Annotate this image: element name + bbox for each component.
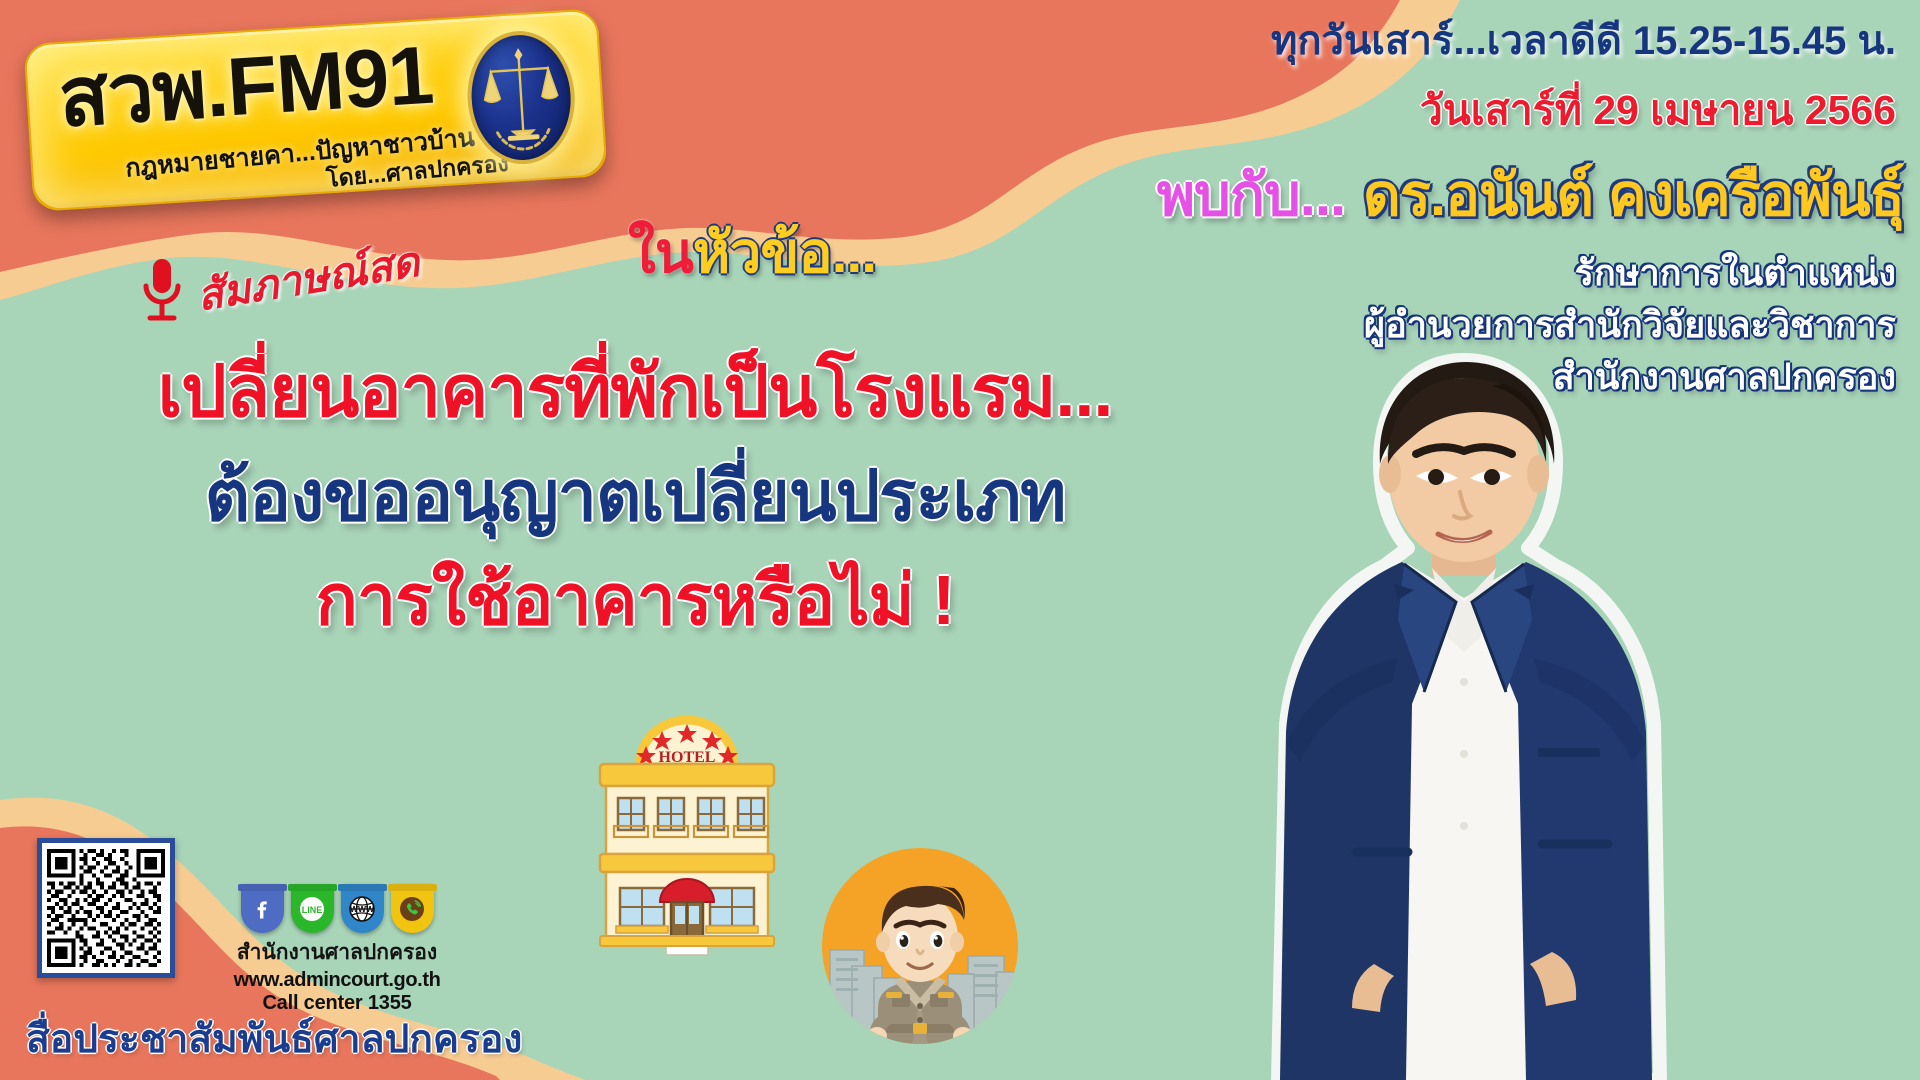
svg-text:WWW: WWW <box>350 904 375 914</box>
call-center-icon[interactable] <box>391 884 434 933</box>
guest-name: ดร.อนันต์ คงเครือพันธุ์ <box>1363 163 1904 228</box>
schedule-recurrence: ทุกวันเสาร์...เวลาดีดี 15.25-15.45 น. <box>1271 8 1896 72</box>
meet-prefix: พบกับ... <box>1157 163 1345 228</box>
organization-url[interactable]: www.admincourt.go.th <box>222 969 452 992</box>
guest-role-line-2: ผู้อำนวยการสำนักวิจัยและวิชาการ <box>1364 296 1896 353</box>
organization-name: สำนักงานศาลปกครอง <box>222 936 452 969</box>
hotel-building-illustration: HOTEL <box>588 706 786 958</box>
headline-block: เปลี่ยนอาคารที่พักเป็นโรงแรม... ต้องขออน… <box>0 352 1270 639</box>
headline-line-3: การใช้อาคารหรือไม่ ! <box>0 561 1270 639</box>
guest-name-row: พบกับ...ดร.อนันต์ คงเครือพันธุ์ <box>1157 148 1904 241</box>
website-globe-icon[interactable]: WWW <box>341 884 384 933</box>
microphone-icon <box>140 258 184 324</box>
line-icon[interactable]: LINE <box>291 884 334 933</box>
schedule-date: วันเสาร์ที่ 29 เมษายน 2566 <box>1420 78 1896 143</box>
guest-role-line-1: รักษาการในตำแหน่ง <box>1575 244 1896 301</box>
topic-lead-in: ในหัวข้อ... <box>628 208 876 298</box>
scales-of-justice-emblem <box>464 28 579 167</box>
topic-word: หัวข้อ... <box>693 221 876 285</box>
station-logo-plate: สวพ.FM91 กฎหมายชายคา...ปัญหาชาวบ้าน โดย.… <box>23 8 607 212</box>
topic-prefix: ใน <box>628 221 693 285</box>
facebook-icon[interactable] <box>241 884 284 933</box>
headline-line-2: ต้องขออนุญาตเปลี่ยนประเภท <box>0 457 1270 535</box>
headline-line-1: เปลี่ยนอาคารที่พักเป็นโรงแรม... <box>0 352 1270 433</box>
footer-credit: สื่อประชาสัมพันธ์ศาลปกครอง <box>26 1008 522 1070</box>
social-icons-row: LINE WWW <box>222 884 452 933</box>
presenter-portrait <box>1256 352 1676 1080</box>
government-official-avatar <box>820 846 1020 1046</box>
social-footer-block: LINE WWW <box>222 884 452 1015</box>
qr-code[interactable] <box>37 838 175 978</box>
poster-canvas: สวพ.FM91 กฎหมายชายคา...ปัญหาชาวบ้าน โดย.… <box>0 0 1920 1080</box>
live-interview-label: สัมภาษณ์สด <box>192 229 424 329</box>
svg-text:LINE: LINE <box>302 905 323 915</box>
